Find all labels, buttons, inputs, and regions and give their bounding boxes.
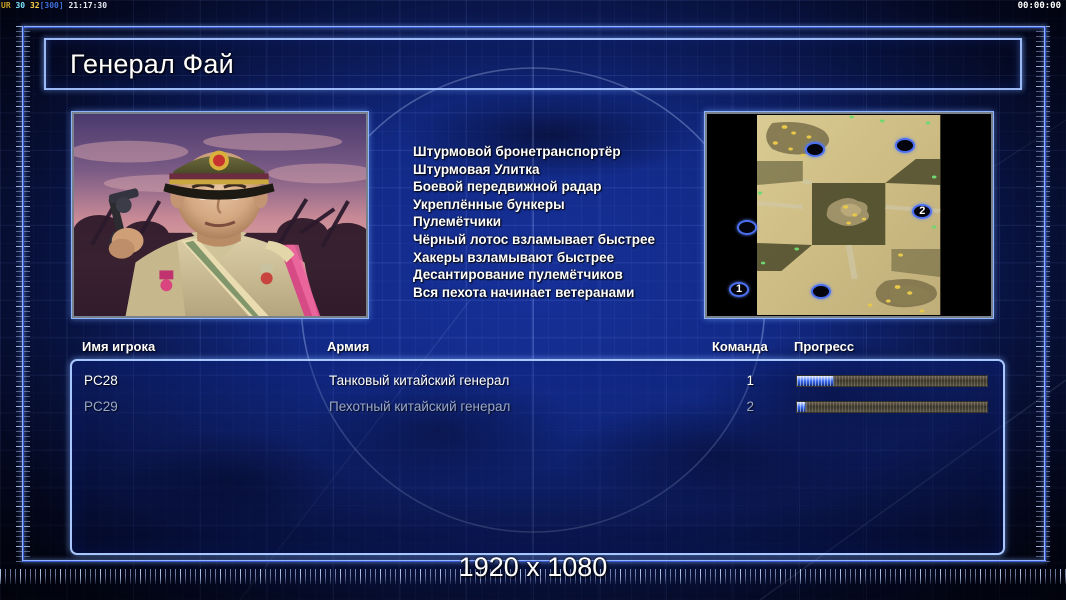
match-timer: 00:00:00 [1018,1,1061,11]
ability-item: Боевой передвижной радар [413,178,713,196]
player-progress-fill [797,376,833,386]
player-progress-bar [796,401,988,413]
ability-item: Укреплённые бункеры [413,196,713,214]
column-header-team: Команда [712,339,768,354]
game-lobby-screen: UR 30 32[300] 21:17:30 00:00:00 Генерал … [0,0,1066,600]
ability-item: Хакеры взламывают быстрее [413,249,713,267]
frame-line-top [22,26,1046,28]
debug-clock: 21:17:30 [69,1,108,10]
page-title: Генерал Фай [70,49,234,80]
start-position-label: 2 [919,206,925,217]
player-army: Танковый китайский генерал [329,373,509,388]
player-table: PC28 Танковый китайский генерал 1 PC29 П… [70,359,1005,555]
debug-overlay-text: UR 30 32[300] 21:17:30 [1,1,107,10]
start-position-marker: 2 [912,204,932,219]
player-name: PC29 [84,399,118,414]
start-position-marker [811,284,831,299]
debug-bracket: [300] [40,1,64,10]
start-position-marker [805,142,825,157]
general-portrait [71,111,369,319]
general-info-row: Штурмовой бронетранспортёр Штурмовая Ули… [63,107,1003,325]
frame-line-right [1044,26,1046,560]
debug-fps: 30 [15,1,25,10]
minimap-inner: 2 1 [708,115,990,315]
table-row[interactable]: PC29 Пехотный китайский генерал 2 [72,393,1003,419]
start-position-marker [895,138,915,153]
minimap-preview[interactable]: 2 1 [704,111,994,319]
start-position-marker [737,220,757,235]
debug-frame: 32 [30,1,40,10]
resolution-label: 1920 x 1080 [0,552,1066,583]
table-row[interactable]: PC28 Танковый китайский генерал 1 [72,367,1003,393]
player-team: 1 [714,373,754,388]
column-header-progress: Прогресс [794,339,854,354]
column-header-name: Имя игрока [82,339,155,354]
player-table-header: Имя игрока Армия Команда Прогресс [82,339,997,359]
frame-ruler-right-major [1036,26,1050,566]
ability-item: Штурмовая Улитка [413,161,713,179]
debug-tag: UR [1,1,11,10]
player-army: Пехотный китайский генерал [329,399,510,414]
ability-item: Вся пехота начинает ветеранами [413,284,713,302]
portrait-image [74,114,366,316]
ability-item: Чёрный лотос взламывает быстрее [413,231,713,249]
column-header-army: Армия [327,339,369,354]
ability-item: Десантирование пулемётчиков [413,266,713,284]
start-position-label: 1 [736,284,742,295]
ability-item: Штурмовой бронетранспортёр [413,143,713,161]
ability-item: Пулемётчики [413,213,713,231]
ability-list: Штурмовой бронетранспортёр Штурмовая Ули… [413,143,713,301]
player-team: 2 [714,399,754,414]
player-progress-bar [796,375,988,387]
start-position-marker: 1 [729,282,749,297]
player-progress-fill [797,402,805,412]
player-name: PC28 [84,373,118,388]
frame-line-left [22,26,24,560]
title-panel: Генерал Фай [44,38,1022,90]
